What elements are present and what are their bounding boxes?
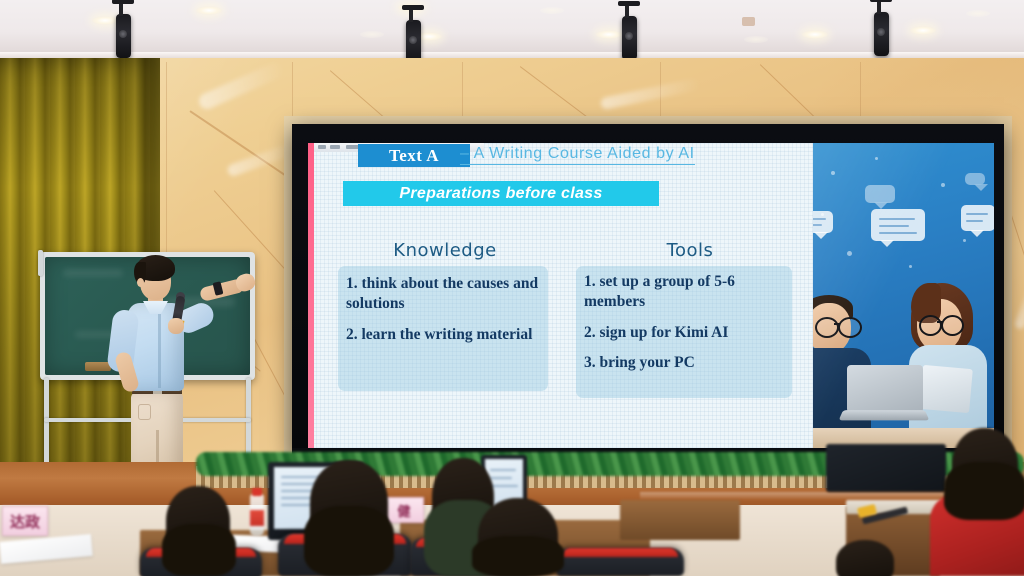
name-card: 健 (384, 497, 424, 523)
spotlight-lens (119, 30, 127, 38)
audience-monitor[interactable] (826, 444, 946, 492)
tools-items: 1. set up a group of 5-6 members 2. sign… (584, 272, 788, 373)
chair-headrest-trim (562, 548, 678, 557)
blackboard-stand-hinge (38, 250, 43, 276)
tools-item: 1. set up a group of 5-6 members (584, 272, 788, 312)
document-text-line (490, 485, 518, 487)
wall-panel-seam (462, 62, 463, 122)
audience-hair (944, 462, 1024, 520)
blackboard-smudge (63, 269, 123, 277)
bottle-cap (252, 488, 262, 496)
toolbar-icon[interactable] (318, 145, 326, 149)
text-a-label: Text A (358, 144, 470, 167)
stage-spotlight (116, 14, 131, 58)
presenter-ear (137, 278, 144, 287)
toolbar-icon[interactable] (330, 145, 340, 149)
knowledge-items: 1. think about the causes and solutions … (346, 274, 542, 344)
ceiling-downlight (910, 26, 936, 35)
ceiling-light-reflection (966, 10, 990, 17)
knowledge-item: 2. learn the writing material (346, 325, 542, 345)
ceiling-smoke-detector (742, 17, 755, 26)
document-text-line (490, 469, 516, 471)
wall-panel-seam (292, 62, 293, 122)
presenter-shirt-placket (158, 310, 161, 388)
audience-hair (304, 506, 394, 576)
blackboard-eraser[interactable] (85, 362, 111, 371)
slide-photo-students (813, 143, 994, 448)
ceiling-light-reflection (744, 36, 768, 43)
ceiling-downlight (596, 30, 622, 39)
ceiling-light-reflection (540, 7, 564, 14)
audience-hair (472, 536, 564, 576)
slide-subtitle: – A Writing Course Aided by AI (460, 145, 695, 165)
audience-desk (620, 500, 740, 540)
knowledge-item: 1. think about the causes and solutions (346, 274, 542, 314)
section-banner-label: Preparations before class (343, 181, 659, 206)
spotlight-lens (625, 32, 633, 40)
audience-head (836, 540, 894, 576)
presenter-pocket (138, 404, 151, 420)
ceiling-downlight (92, 16, 118, 25)
photo-sheen (813, 143, 994, 448)
slide-left-accent-stripe (308, 143, 314, 448)
ceiling-downlight (802, 30, 828, 39)
ceiling-downlight (196, 6, 222, 15)
column-title-tools: Tools (630, 240, 750, 261)
stage-spotlight (622, 16, 637, 60)
spotlight-lens (877, 28, 885, 36)
floor-reflection (640, 492, 970, 500)
ceiling-light-reflection (360, 31, 384, 38)
spotlight-lens (409, 36, 417, 44)
bottle-label (250, 510, 264, 526)
lecture-hall-photo: Text A – A Writing Course Aided by AI Pr… (0, 0, 1024, 576)
ceiling (0, 0, 1024, 58)
stage-spotlight (874, 12, 889, 56)
document-text-line (490, 477, 512, 479)
wall-panel-seam (860, 62, 861, 122)
column-title-knowledge: Knowledge (370, 240, 520, 261)
presenter-mic-hand (168, 318, 184, 334)
audience-hair (162, 524, 236, 576)
tools-item: 3. bring your PC (584, 353, 788, 373)
tools-item: 2. sign up for Kimi AI (584, 323, 788, 343)
name-card: 达政 (2, 506, 48, 536)
